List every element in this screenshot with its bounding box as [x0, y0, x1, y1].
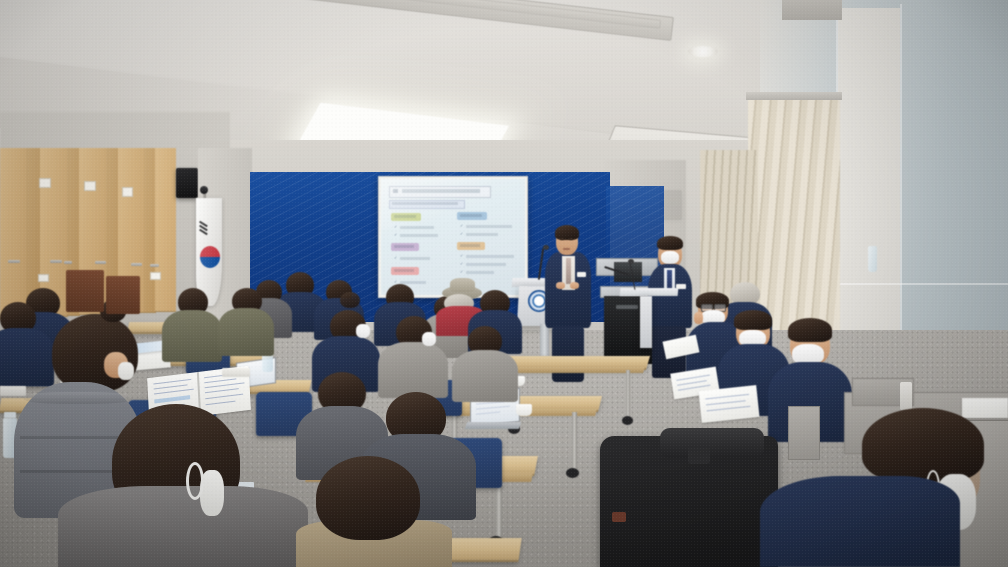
- attendee-head: [340, 292, 360, 308]
- cubicle-partition: [788, 406, 820, 460]
- side-lectern-top: [620, 288, 679, 296]
- flag-finial: [200, 186, 208, 194]
- microphone-head: [543, 245, 549, 250]
- mask-ear-loop: [186, 462, 204, 500]
- office-chair-mount: [688, 446, 710, 464]
- face-mask: [661, 251, 679, 264]
- front-attendee-body: [760, 476, 960, 567]
- table-leg: [572, 412, 577, 470]
- side-lectern-post: [640, 296, 652, 348]
- attendee-body: [218, 308, 274, 356]
- av-rack-vent: [616, 305, 638, 309]
- puffer-seam: [24, 392, 132, 404]
- laptop-base: [465, 422, 521, 429]
- attendee-body: [0, 328, 54, 386]
- attendee-hand: [694, 312, 703, 324]
- attendee-body: [452, 350, 518, 402]
- presenter-hand: [570, 282, 579, 289]
- table-caster: [566, 468, 579, 478]
- bottle-cap: [4, 412, 16, 418]
- desk-item: [222, 368, 250, 377]
- right-wall-seam: [836, 283, 1008, 285]
- handout-document: [962, 398, 1008, 418]
- presenter-tie: [566, 258, 571, 284]
- wall-speaker-left: [176, 168, 198, 198]
- second-speaker-hair: [657, 236, 683, 250]
- attendee-hair: [788, 318, 832, 342]
- water-bottle: [868, 246, 877, 272]
- desk-item: [0, 386, 26, 396]
- presenter-legs: [552, 326, 584, 382]
- front-attendee-hair: [862, 408, 984, 482]
- conference-room-photo: ✓ ✓ ✓ ✓ ✓ ✓ ✓ ✓: [0, 0, 1008, 567]
- table-leg: [496, 480, 502, 542]
- attendee-body: [58, 486, 308, 567]
- face-mask: [422, 332, 436, 346]
- presenter-name-badge: [577, 272, 586, 277]
- right-wall-valance: [782, 0, 842, 20]
- presenter-hair: [555, 225, 579, 240]
- lectern-post: [540, 324, 549, 360]
- attendee-hair: [734, 310, 772, 330]
- ceiling-downlight: [688, 46, 718, 57]
- attendee-hat-crown: [450, 278, 475, 292]
- table-caster: [622, 416, 633, 425]
- handout-document: [698, 385, 759, 423]
- table-leg: [626, 370, 630, 418]
- presenter-hand: [556, 282, 565, 289]
- attendee-hair: [316, 456, 420, 540]
- paper-cup: [516, 404, 532, 416]
- attendee-body: [162, 310, 222, 362]
- office-chair-lever: [612, 512, 626, 522]
- face-mask: [356, 324, 370, 338]
- second-speaker-tie: [667, 270, 672, 290]
- attendee-body: [378, 342, 448, 398]
- face-mask: [118, 362, 134, 380]
- attendee-hair: [52, 314, 138, 392]
- wooden-chair: [106, 276, 140, 314]
- partition-bracket: [900, 382, 912, 410]
- wooden-chair: [66, 270, 104, 312]
- microphone-head: [628, 259, 634, 264]
- blinds-headrail: [746, 92, 842, 100]
- office-chair-headrest: [660, 428, 764, 458]
